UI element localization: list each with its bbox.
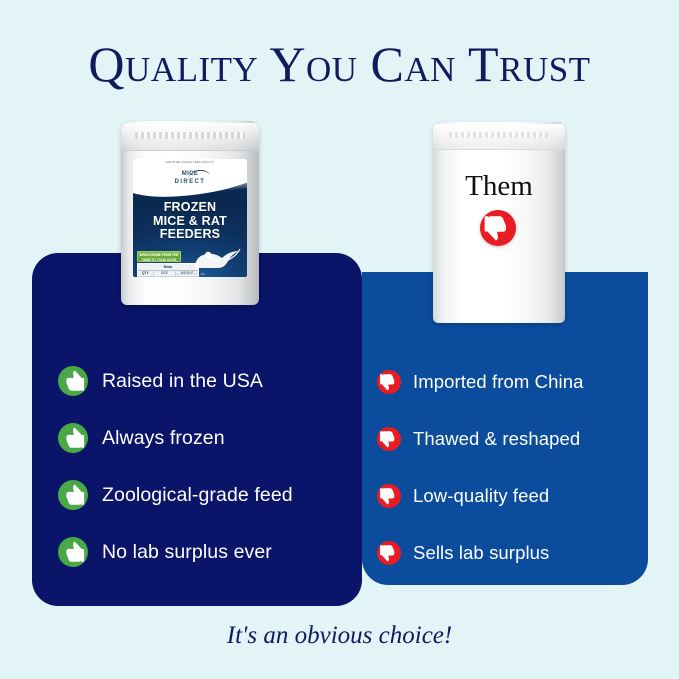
thumbs-up-icon xyxy=(58,366,88,396)
benefits-list-ours: Raised in the USA Always frozen Zoologic… xyxy=(58,352,358,580)
list-item-label: Raised in the USA xyxy=(102,369,263,393)
product-name: FROZEN MICE & RAT FEEDERS xyxy=(133,201,247,242)
list-item-label: Imported from China xyxy=(413,370,584,394)
list-item[interactable]: Raised in the USA xyxy=(58,352,358,409)
list-item-label: Zoological-grade feed xyxy=(102,483,293,507)
rat-illustration-icon xyxy=(190,244,242,270)
bag-footer-note: KEEP FROZEN UNTIL USE xyxy=(133,273,247,276)
product-name-line-1: FROZEN xyxy=(133,201,247,215)
certification-line: CERTIFIED ANIMAL FEED FACILITY xyxy=(133,161,247,164)
product-name-line-3: FEEDERS xyxy=(133,228,247,242)
thumbs-up-icon xyxy=(58,423,88,453)
list-item[interactable]: No lab surplus ever xyxy=(58,523,358,580)
thumbs-up-icon xyxy=(58,480,88,510)
list-item[interactable]: Thawed & reshaped xyxy=(377,410,642,467)
list-item-label: Thawed & reshaped xyxy=(413,427,580,451)
list-item[interactable]: Zoological-grade feed xyxy=(58,466,358,523)
drawbacks-list-theirs: Imported from China Thawed & reshaped Lo… xyxy=(377,353,642,581)
list-item-label: Low-quality feed xyxy=(413,484,549,508)
footer-tagline: It's an obvious choice! xyxy=(0,621,679,651)
competitor-label: Them xyxy=(433,170,565,202)
thumbs-down-icon xyxy=(480,210,516,246)
comparison-panel-theirs-corner xyxy=(362,272,402,312)
bag-seal xyxy=(121,123,259,151)
list-item[interactable]: Always frozen xyxy=(58,409,358,466)
list-item[interactable]: Low-quality feed xyxy=(377,467,642,524)
thumbs-down-icon xyxy=(377,370,401,394)
list-item-label: Always frozen xyxy=(102,426,225,450)
list-item[interactable]: Imported from China xyxy=(377,353,642,410)
infographic-canvas: Quality You Can Trust CERTIFIED ANIMAL F… xyxy=(0,0,679,679)
thumbs-down-icon xyxy=(377,541,401,565)
list-item-label: Sells lab surplus xyxy=(413,541,549,565)
list-item-label: No lab surplus ever xyxy=(102,540,272,564)
brand-logo: MICE DIRECT xyxy=(133,171,247,186)
product-name-line-2: MICE & RAT xyxy=(133,215,247,229)
thumbs-down-icon xyxy=(377,484,401,508)
bag-front-label: CERTIFIED ANIMAL FEED FACILITY MICE DIRE… xyxy=(133,159,247,277)
list-item[interactable]: Sells lab surplus xyxy=(377,524,642,581)
freshness-badge: WHOLESOME FROM THE FARM TO YOUR DOOR xyxy=(137,251,181,262)
thumbs-up-icon xyxy=(58,537,88,567)
thumbs-down-icon xyxy=(377,427,401,451)
page-title: Quality You Can Trust xyxy=(0,36,679,92)
animal-caption: Pups xyxy=(216,261,225,266)
bag-seal-theirs xyxy=(433,124,565,150)
product-bag-ours: CERTIFIED ANIMAL FEED FACILITY MICE DIRE… xyxy=(121,121,259,305)
